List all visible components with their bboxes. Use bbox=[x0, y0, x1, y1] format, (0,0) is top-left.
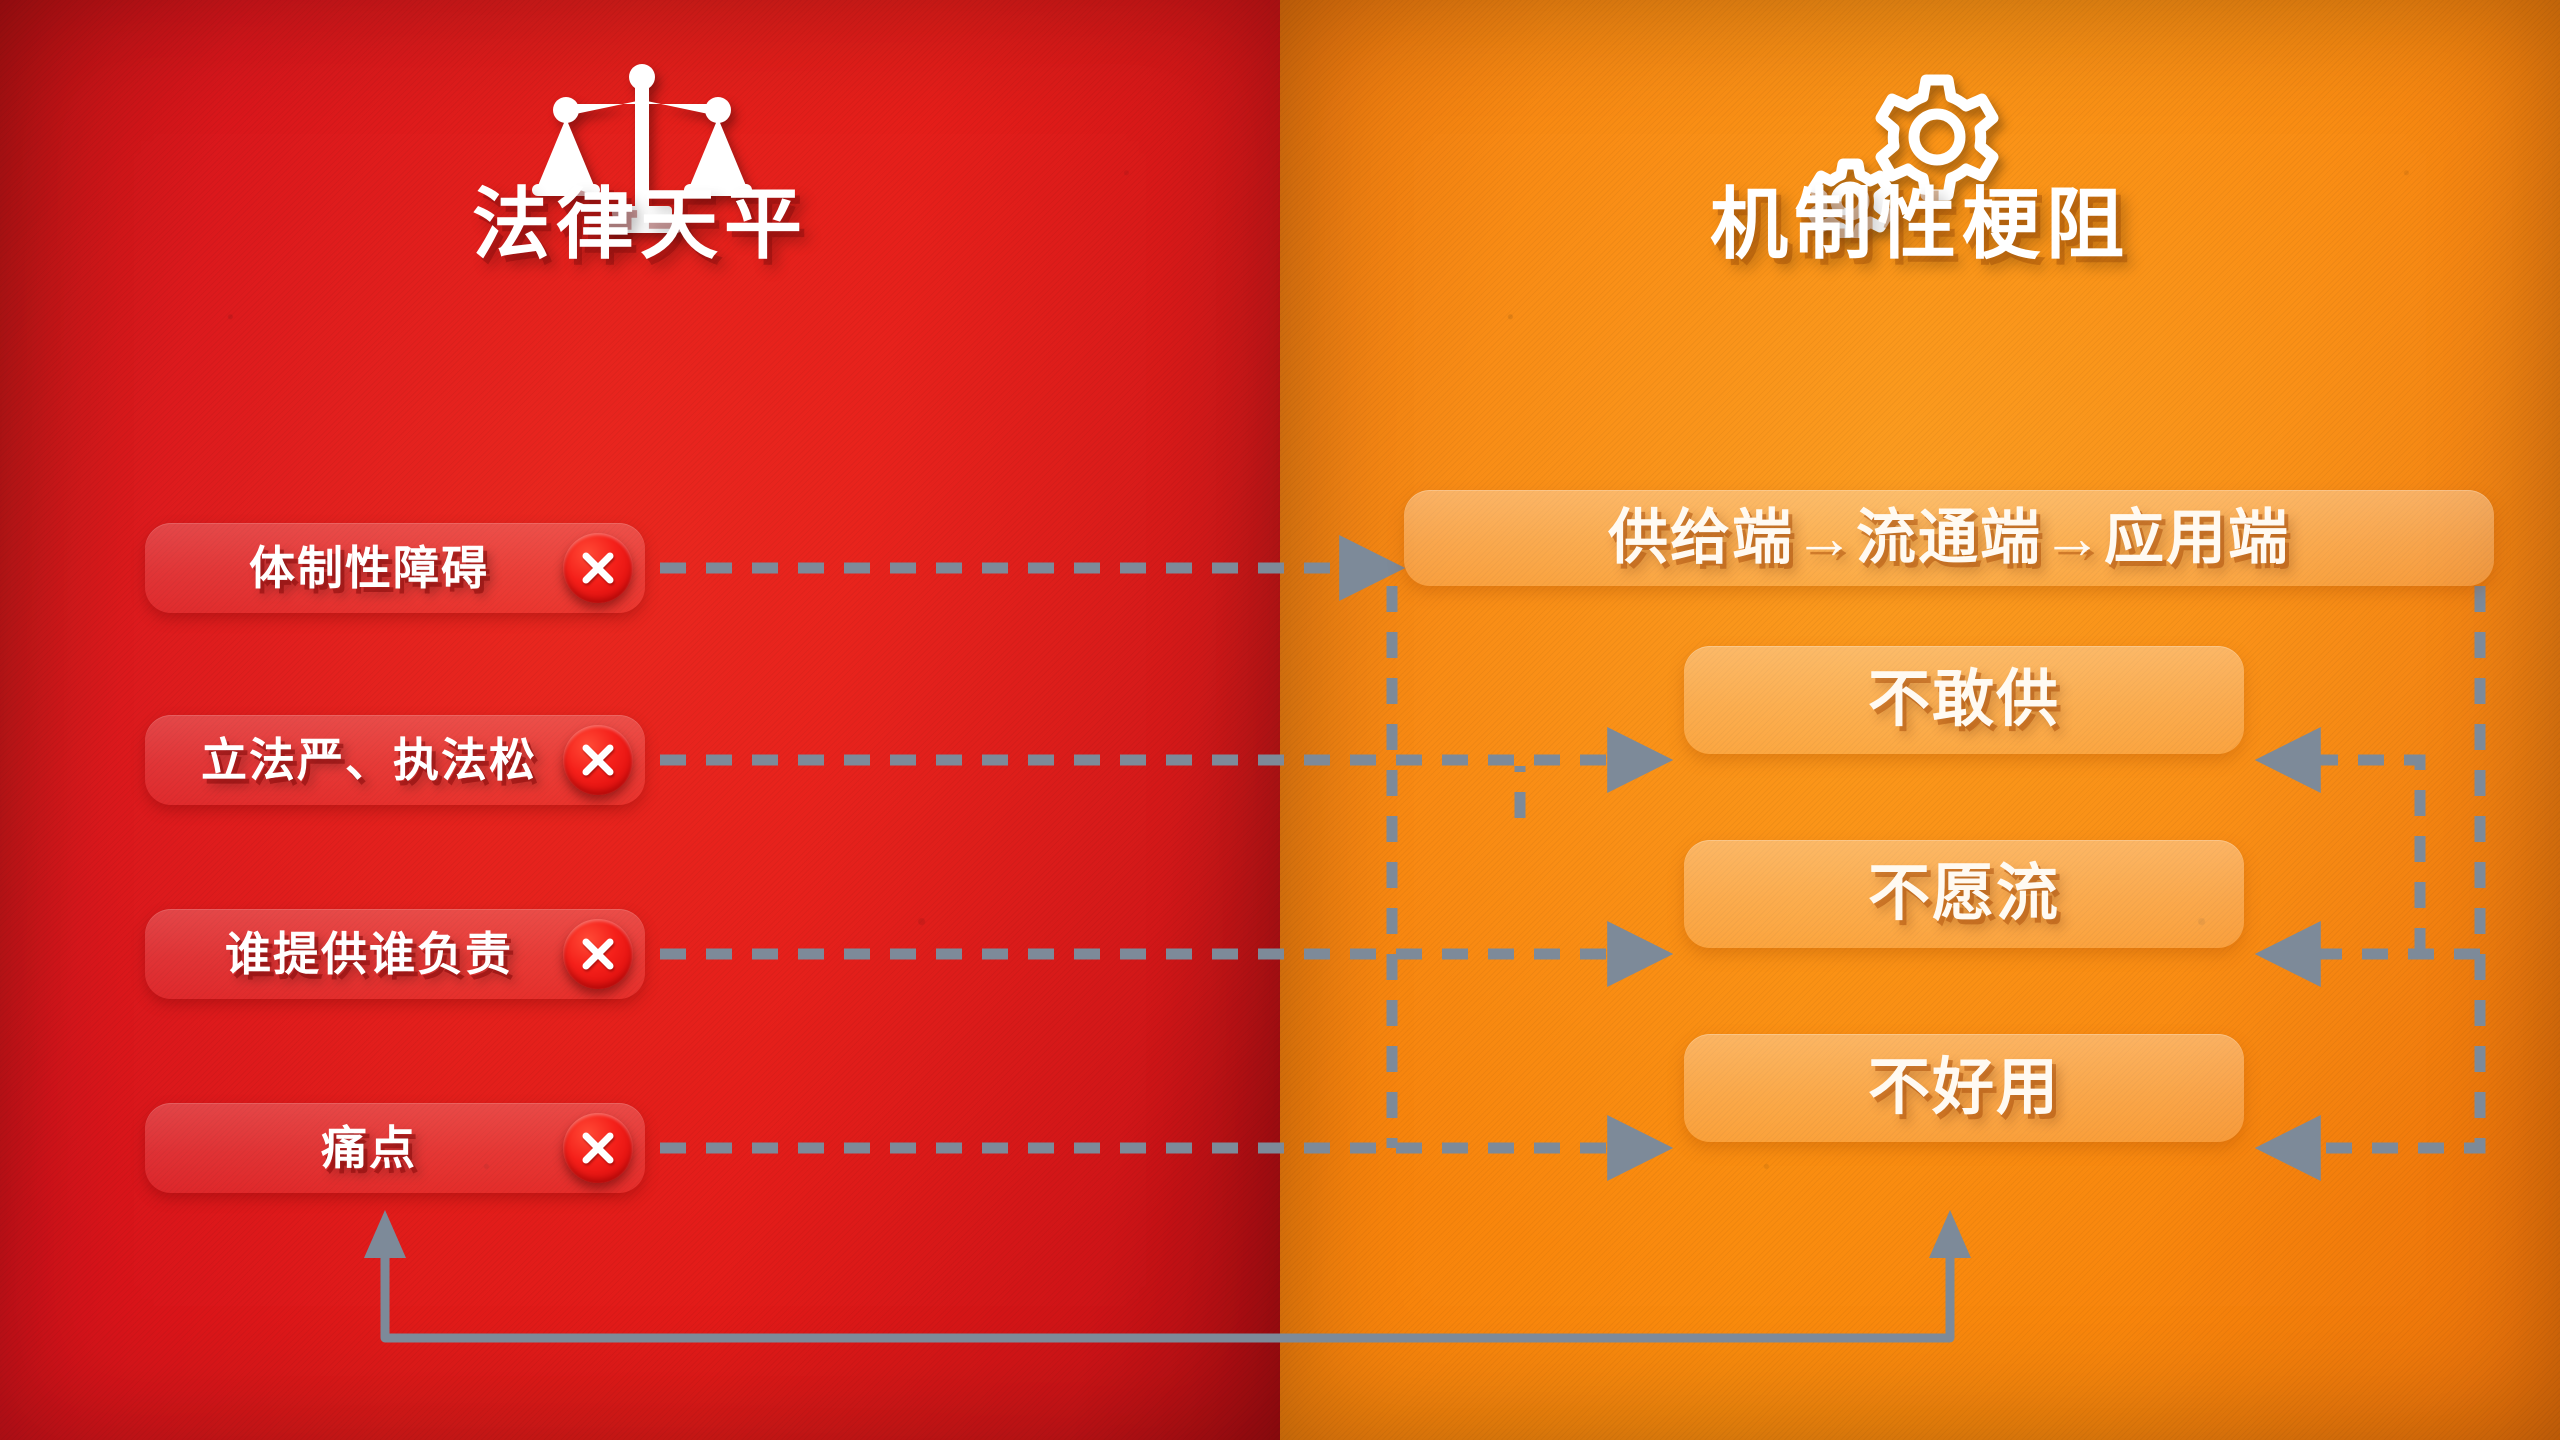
close-icon-0[interactable] bbox=[563, 533, 633, 603]
right-card-2[interactable]: 不愿流 bbox=[1684, 840, 2244, 948]
close-icon-2[interactable] bbox=[563, 919, 633, 989]
left-column-title: 法律天平 bbox=[0, 185, 1280, 263]
right-card-3[interactable]: 不好用 bbox=[1684, 1034, 2244, 1142]
right-card-1[interactable]: 不敢供 bbox=[1684, 646, 2244, 754]
right-card-0-label: 供给端→流通端→应用端 bbox=[1608, 508, 2290, 568]
left-card-2[interactable]: 谁提供谁负责 bbox=[145, 909, 645, 999]
right-column-title: 机制性梗阻 bbox=[1280, 185, 2560, 263]
left-card-0-label: 体制性障碍 bbox=[249, 545, 541, 591]
left-card-1[interactable]: 立法严、执法松 bbox=[145, 715, 645, 805]
close-icon-3[interactable] bbox=[563, 1113, 633, 1183]
left-card-1-label: 立法严、执法松 bbox=[201, 737, 589, 783]
infographic-canvas: 法律天平 机制性梗阻 bbox=[0, 0, 2560, 1440]
left-card-2-label: 谁提供谁负责 bbox=[225, 931, 565, 977]
right-card-3-label: 不好用 bbox=[1868, 1057, 2060, 1119]
right-card-0[interactable]: 供给端→流通端→应用端 bbox=[1404, 490, 2494, 586]
left-card-0[interactable]: 体制性障碍 bbox=[145, 523, 645, 613]
right-card-1-label: 不敢供 bbox=[1868, 669, 2060, 731]
left-card-3[interactable]: 痛点 bbox=[145, 1103, 645, 1193]
right-card-2-label: 不愿流 bbox=[1868, 863, 2060, 925]
left-card-3-label: 痛点 bbox=[321, 1125, 469, 1171]
close-icon-1[interactable] bbox=[563, 725, 633, 795]
